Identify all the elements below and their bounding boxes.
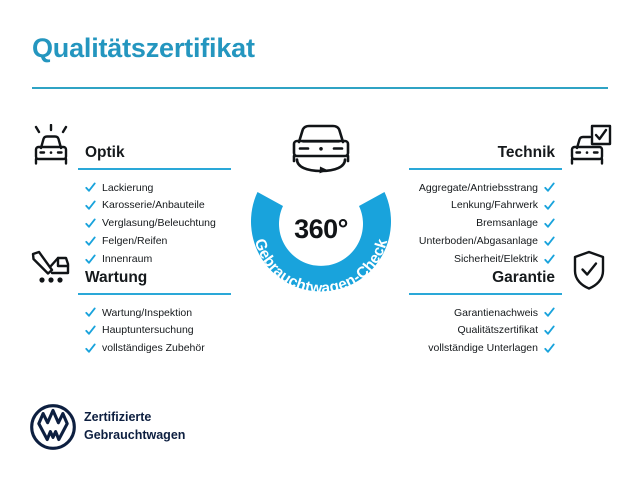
check-mark-icon bbox=[85, 325, 96, 336]
check-mark-icon bbox=[85, 218, 96, 229]
car-checkbox-icon bbox=[566, 124, 612, 168]
check-mark-icon bbox=[544, 218, 555, 229]
list-item-label: vollständige Unterlagen bbox=[428, 343, 538, 354]
section-garantie-list: Garantienachweis Qualitätszertifikat vol… bbox=[367, 295, 612, 357]
list-item-label: Wartung/Inspektion bbox=[102, 308, 192, 319]
check-mark-icon bbox=[544, 307, 555, 318]
list-item: Hauptuntersuchung bbox=[85, 322, 273, 340]
footer-line-1: Zertifizierte bbox=[84, 408, 185, 426]
car-rotate-icon bbox=[283, 118, 359, 174]
footer-line-2: Gebrauchtwagen bbox=[84, 426, 185, 444]
section-wartung-list: Wartung/Inspektion Hauptuntersuchung vol… bbox=[28, 295, 273, 357]
badge-360-gebrauchtwagen-check: Gebrauchtwagen-Check 360° bbox=[235, 118, 407, 303]
vw-logo-icon bbox=[30, 404, 76, 450]
check-mark-icon bbox=[544, 343, 555, 354]
section-optik-title: Optik bbox=[85, 144, 125, 162]
list-item: Wartung/Inspektion bbox=[85, 304, 273, 322]
section-technik-divider bbox=[409, 168, 562, 170]
list-item: Garantienachweis bbox=[367, 304, 555, 322]
certificate-page: Qualitätszertifikat Optik bbox=[0, 0, 640, 480]
section-optik-divider bbox=[78, 168, 231, 170]
list-item-label: Felgen/Reifen bbox=[102, 236, 167, 247]
list-item: vollständige Unterlagen bbox=[367, 340, 555, 358]
title-divider bbox=[32, 87, 608, 89]
list-item-label: Unterboden/Abgasanlage bbox=[419, 236, 538, 247]
list-item-label: Verglasung/Beleuchtung bbox=[102, 218, 216, 229]
list-item-label: Lenkung/Fahrwerk bbox=[451, 200, 538, 211]
badge-degrees-label: 360° bbox=[235, 214, 407, 245]
list-item-label: Bremsanlage bbox=[476, 218, 538, 229]
section-garantie-divider bbox=[409, 293, 562, 295]
list-item: vollständiges Zubehör bbox=[85, 340, 273, 358]
check-mark-icon bbox=[85, 343, 96, 354]
car-shine-icon bbox=[28, 124, 74, 168]
check-mark-icon bbox=[85, 236, 96, 247]
check-mark-icon bbox=[85, 182, 96, 193]
list-item-label: Garantienachweis bbox=[454, 308, 538, 319]
list-item-label: Lackierung bbox=[102, 183, 153, 194]
check-mark-icon bbox=[544, 236, 555, 247]
section-wartung-title: Wartung bbox=[85, 269, 147, 287]
footer-lockup-text: Zertifizierte Gebrauchtwagen bbox=[84, 408, 185, 444]
section-technik-title: Technik bbox=[498, 144, 555, 162]
list-item-label: Aggregate/Antriebsstrang bbox=[419, 183, 538, 194]
check-mark-icon bbox=[544, 200, 555, 211]
check-mark-icon bbox=[85, 307, 96, 318]
list-item-label: Karosserie/Anbauteile bbox=[102, 200, 205, 211]
list-item-label: Hauptuntersuchung bbox=[102, 325, 194, 336]
list-item-label: vollständiges Zubehör bbox=[102, 343, 205, 354]
shield-check-icon bbox=[566, 249, 612, 293]
check-mark-icon bbox=[85, 200, 96, 211]
check-mark-icon bbox=[544, 325, 555, 336]
service-tool-car-icon bbox=[28, 249, 74, 293]
check-mark-icon bbox=[544, 182, 555, 193]
section-wartung-divider bbox=[78, 293, 231, 295]
list-item-label: Qualitätszertifikat bbox=[457, 325, 538, 336]
list-item: Qualitätszertifikat bbox=[367, 322, 555, 340]
section-garantie-title: Garantie bbox=[492, 269, 555, 287]
page-title: Qualitätszertifikat bbox=[32, 33, 255, 64]
